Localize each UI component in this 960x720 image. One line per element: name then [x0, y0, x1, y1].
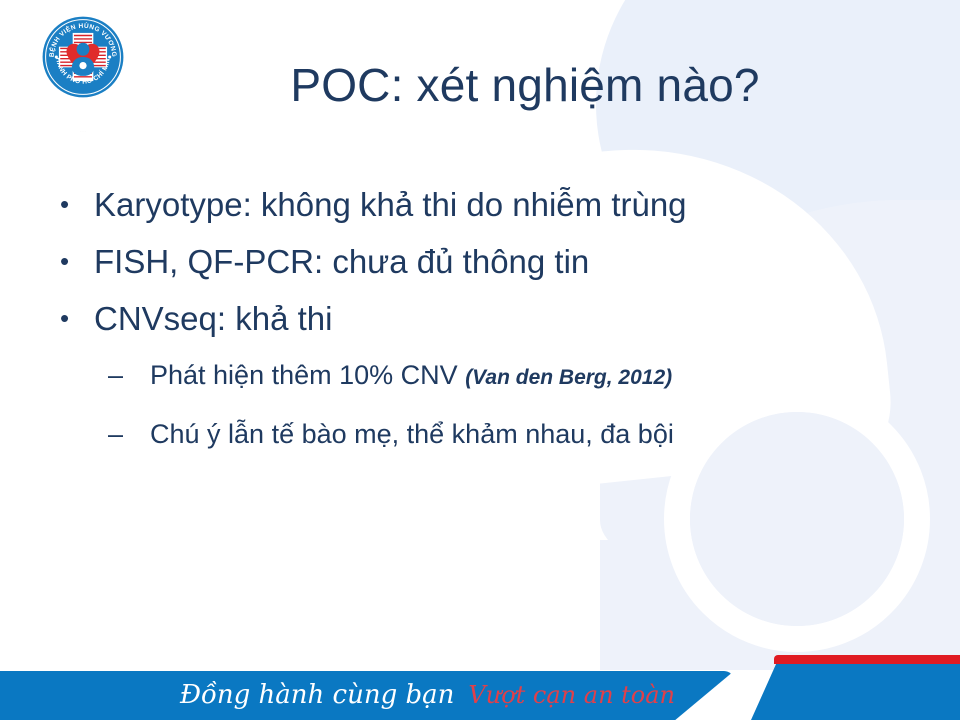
sub-bullet-item-1: – Phát hiện thêm 10% CNV (Van den Berg, … — [46, 347, 936, 406]
dash-marker-icon: – — [108, 406, 123, 462]
dash-marker-icon: – — [108, 347, 123, 403]
footer-band-red-accent — [774, 655, 960, 664]
sub-bullet-text-2: Chú ý lẫn tế bào mẹ, thể khảm nhau, đa b… — [150, 419, 674, 449]
bullet-marker-icon: • — [60, 176, 69, 233]
slide-title: POC: xét nghiệm nào? — [175, 56, 875, 114]
footer-band-right — [751, 664, 960, 720]
sub-bullet-text-1: Phát hiện thêm 10% CNV — [150, 360, 458, 390]
bullet-marker-icon: • — [60, 233, 69, 290]
decorative-tint-bottom-right — [600, 540, 960, 670]
sub-bullet-item-2: – Chú ý lẫn tế bào mẹ, thể khảm nhau, đa… — [46, 406, 936, 462]
bullet-text-1: Karyotype: không khả thi do nhiễm trùng — [94, 186, 687, 223]
bullet-text-3: CNVseq: khả thi — [94, 300, 332, 337]
bullet-item-3: • CNVseq: khả thi — [46, 290, 936, 347]
hospital-logo-icon: BỆNH VIỆN HÙNG VƯƠNG THÀNH PHỐ HỒ CHÍ MI… — [40, 14, 126, 100]
footer-slogan: Đồng hành cùng bạn Vượt cạn an toàn — [180, 672, 675, 718]
bullet-text-2: FISH, QF-PCR: chưa đủ thông tin — [94, 243, 589, 280]
citation-reference: (Van den Berg, 2012) — [465, 366, 672, 389]
slide-body: • Karyotype: không khả thi do nhiễm trùn… — [46, 176, 936, 462]
slogan-primary: Đồng hành cùng bạn — [180, 680, 454, 710]
slide-canvas: BỆNH VIỆN HÙNG VƯƠNG THÀNH PHỐ HỒ CHÍ MI… — [0, 0, 960, 720]
bullet-marker-icon: • — [60, 290, 69, 347]
bullet-item-2: • FISH, QF-PCR: chưa đủ thông tin — [46, 233, 936, 290]
bullet-item-1: • Karyotype: không khả thi do nhiễm trùn… — [46, 176, 936, 233]
slogan-secondary: Vượt cạn an toàn — [468, 681, 675, 709]
